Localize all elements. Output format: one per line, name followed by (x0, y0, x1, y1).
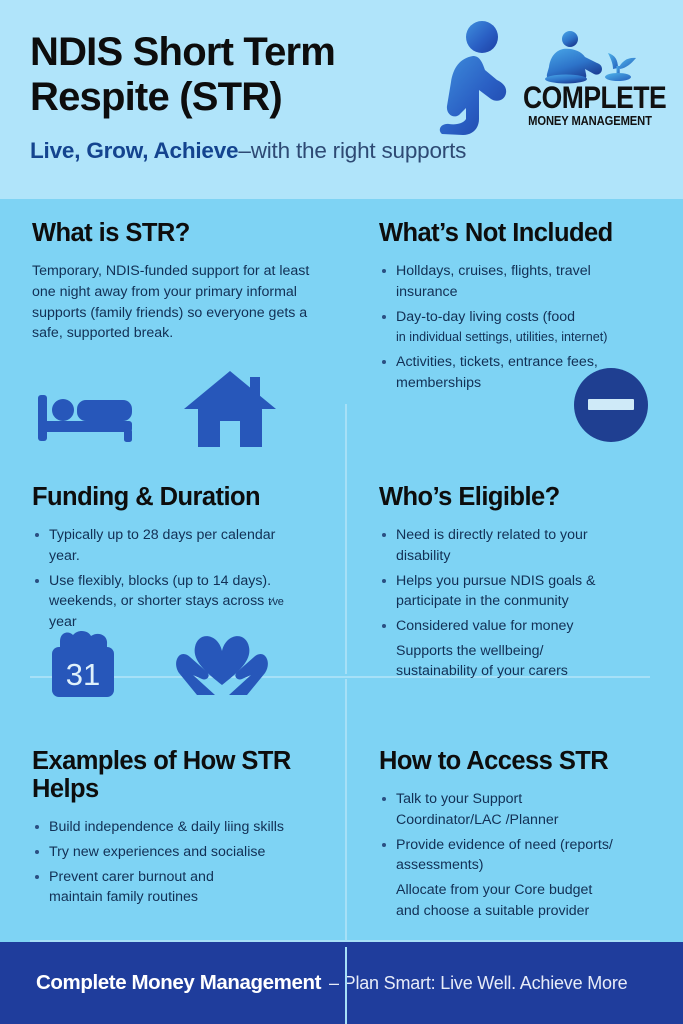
infographic-poster: NDIS Short Term Respite (STR) Live, Grow… (0, 0, 683, 1024)
bullet-line: Allocate from your Core budget (396, 882, 592, 898)
svg-text:31: 31 (66, 657, 100, 692)
footer-tagline: – Plan Smart: Live Well. Achieve More (329, 973, 627, 994)
bullet-line: Supports the wellbeing/ (396, 643, 544, 659)
bullet-line: maintain family routines (49, 889, 198, 905)
bullet-line: Talk to your Support (396, 791, 522, 807)
brand-wordmark-block: COMPLETE MONEY MANAGEMENT (523, 28, 657, 127)
page-subtitle: Live, Grow, Achieve–with the right suppo… (30, 138, 655, 164)
bullet-line-suffix: t⁄ve (268, 596, 283, 608)
bullet-line: sustainability of your carers (396, 663, 568, 679)
brand-logo: COMPLETE MONEY MANAGEMENT (427, 18, 657, 138)
list-whos-eligible: Need is directly related to your disabil… (379, 525, 659, 682)
subtitle-rest: with the right supports (251, 138, 467, 163)
bullet-line: disability (396, 548, 450, 564)
section-title-whats-not-included: What’s Not Included (379, 219, 663, 247)
subtitle-emphasis: Live, Grow, Achieve (30, 138, 238, 163)
list-item: Build independence & daily liing skills (32, 817, 327, 838)
no-entry-icon (573, 367, 649, 443)
list-item: Prevent carer burnout and maintain famil… (32, 867, 327, 908)
page-title-line1: NDIS Short Term (30, 30, 335, 74)
section-paragraph-what-is-str: Temporary, NDIS-funded support for at le… (32, 261, 327, 344)
list-item: Holldays, cruises, flights, travel insur… (379, 261, 659, 302)
list-how-to-access-str: Talk to your Support Coordinator/LAC /Pl… (379, 789, 659, 921)
list-item: Typically up to 28 days per calendar yea… (32, 525, 317, 566)
content-grid: What is STR? Temporary, NDIS-funded supp… (0, 199, 683, 942)
bullet-line: Coordinator/LAC /Planner (396, 812, 558, 828)
walking-person-icon (433, 20, 521, 138)
divider-vertical-row3 (345, 947, 347, 1024)
list-item: Considered value for money (379, 616, 659, 637)
section-title-what-is-str: What is STR? (32, 219, 327, 247)
icon-row-funding-and-duration: 31 (48, 621, 270, 699)
section-title-how-to-access-str: How to Access STR (379, 747, 663, 775)
bullet-line: Activities, tickets, entrance fees, (396, 354, 598, 370)
section-title-funding-and-duration: Funding & Duration (32, 483, 327, 511)
subtitle-dash: – (238, 138, 250, 163)
bed-icon (36, 385, 136, 449)
kneeling-person-planting-icon (523, 28, 657, 84)
bullet-line: in individual settings, utilities, inter… (396, 330, 607, 344)
list-item: Talk to your Support Coordinator/LAC /Pl… (379, 789, 659, 830)
bullet-line: Day-to-day living costs (food (396, 309, 575, 325)
list-item: Try new experiences and socialise (32, 842, 327, 863)
page-title: NDIS Short Term Respite (STR) (30, 30, 450, 120)
section-examples-of-how-str-helps: Examples of How STR Helps Build independ… (0, 727, 345, 942)
bullet-line: Need is directly related to your (396, 527, 588, 543)
section-title-examples-of-how-str-helps: Examples of How STR Helps (32, 747, 324, 803)
bullet-line: Prevent carer burnout and (49, 869, 214, 885)
bullet-line: participate in the conmunity (396, 593, 569, 609)
section-title-whos-eligible: Who’s Eligible? (379, 483, 663, 511)
house-icon (184, 369, 276, 449)
bullet-line: Provide evidence of need (reports/ (396, 837, 613, 853)
list-item: Helps you pursue NDIS goals & participat… (379, 571, 659, 612)
list-funding-and-duration: Typically up to 28 days per calendar yea… (32, 525, 317, 633)
bullet-line: memberships (396, 375, 481, 391)
section-funding-and-duration: Funding & Duration Typically up to 28 da… (0, 463, 345, 727)
hands-holding-heart-icon (174, 621, 270, 699)
section-how-to-access-str: How to Access STR Talk to your Support C… (345, 727, 683, 942)
bullet-line: year. (49, 548, 80, 564)
list-examples-of-how-str-helps: Build independence & daily liing skills … (32, 817, 327, 908)
bullet-line: and choose a suitable provider (396, 903, 589, 919)
bullet-line: Holldays, cruises, flights, travel (396, 263, 591, 279)
list-item: Day-to-day living costs (food in individ… (379, 307, 659, 348)
icon-row-what-is-str (36, 369, 276, 449)
bullet-line: assessments) (396, 857, 484, 873)
footer-brand: Complete Money Management (36, 971, 321, 995)
section-what-is-str: What is STR? Temporary, NDIS-funded supp… (0, 199, 345, 463)
bullet-line: insurance (396, 284, 458, 300)
poster-footer: Complete Money Management – Plan Smart: … (0, 942, 683, 1024)
bullet-line: weekends, or shorter stays across (49, 593, 264, 609)
list-item-continuation: Allocate from your Core budget and choos… (379, 880, 659, 921)
bullet-line: Typically up to 28 days per calendar (49, 527, 275, 543)
section-whats-not-included: What’s Not Included Holldays, cruises, f… (345, 199, 683, 463)
poster-header: NDIS Short Term Respite (STR) Live, Grow… (0, 0, 683, 199)
bullet-line: Helps you pursue NDIS goals & (396, 573, 596, 589)
logo-wordmark: COMPLETE (523, 82, 657, 113)
bullet-line: Use flexibly, blocks (up to 14 days). (49, 573, 271, 589)
list-item-continuation: Supports the wellbeing/ sustainability o… (379, 641, 659, 682)
section-whos-eligible: Who’s Eligible? Need is directly related… (345, 463, 683, 727)
logo-tagline: MONEY MANAGEMENT (523, 116, 657, 129)
what-is-str-text: Temporary, NDIS-funded support for at le… (32, 263, 309, 341)
bullet-line: Considered value for money (396, 618, 573, 634)
bullet-line: Build independence & daily liing skills (49, 819, 284, 835)
page-title-line2: Respite (STR) (30, 75, 282, 119)
list-item: Provide evidence of need (reports/ asses… (379, 835, 659, 876)
list-item: Need is directly related to your disabil… (379, 525, 659, 566)
bullet-line: Try new experiences and socialise (49, 844, 265, 860)
calendar-31-icon: 31 (48, 627, 122, 699)
icon-row-whats-not-included (573, 367, 649, 443)
